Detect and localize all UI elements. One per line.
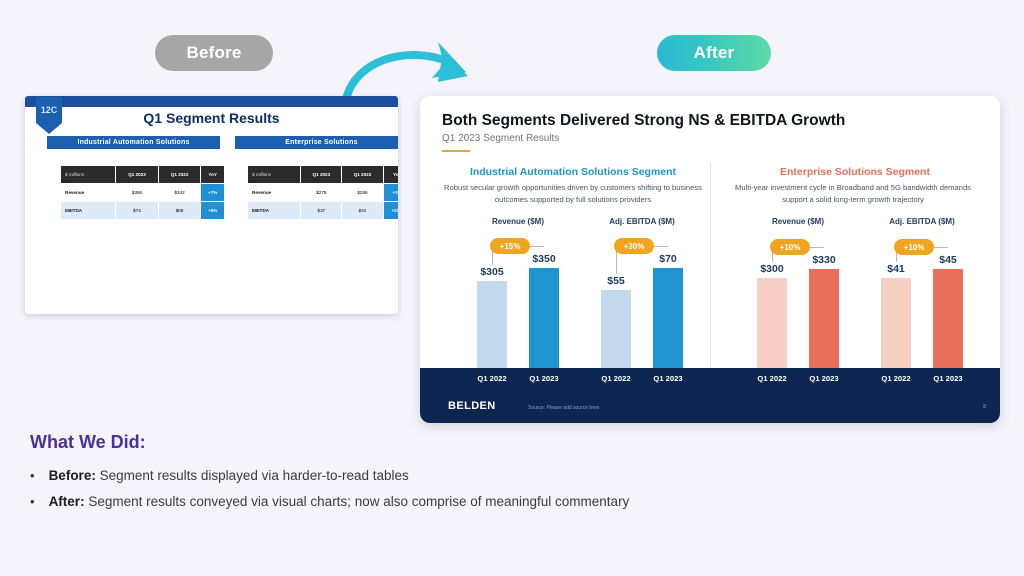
growth-badge: +10% — [894, 239, 934, 255]
x-axis-label: Q1 2023 — [640, 374, 696, 383]
x-axis-label: Q1 2023 — [920, 374, 976, 383]
th-cur: Q1 2023 — [301, 166, 342, 184]
cell-yoy: +7% — [201, 184, 225, 202]
slide-canvas: Before After 12C Q1 Segment Results Indu… — [0, 0, 1024, 576]
th-units: $ millions — [248, 166, 301, 184]
cell-prior: $68 — [158, 202, 201, 220]
th-units: $ millions — [61, 166, 116, 184]
after-column-desc-ias: Robust secular growth opportunities driv… — [444, 182, 702, 206]
growth-badge: +30% — [614, 238, 654, 254]
belden-logo: BELDEN — [448, 400, 496, 412]
bar-value-label: $41 — [868, 263, 924, 275]
cell-label: EBITDA — [248, 202, 301, 220]
th-yoy: YoY — [201, 166, 225, 184]
before-table-ent: $ millions Q1 2023 Q1 2022 YoY Revenue $… — [247, 165, 398, 220]
th-cur: Q1 2023 — [116, 166, 159, 184]
table-row: Revenue $366 $342 +7% — [61, 184, 225, 202]
lead-before: Before: — [49, 468, 96, 483]
bar-q1-2023 — [933, 269, 963, 368]
after-slide: Both Segments Delivered Strong NS & EBIT… — [420, 96, 1000, 423]
body-after: Segment results conveyed via visual char… — [85, 494, 630, 509]
after-column-heading-ias: Industrial Automation Solutions Segment — [438, 166, 708, 178]
cell-cur: $366 — [116, 184, 159, 202]
before-slide: 12C Q1 Segment Results Industrial Automa… — [25, 96, 398, 314]
cell-prior: $31 — [342, 202, 383, 220]
th-prior: Q1 2022 — [158, 166, 201, 184]
body-before: Segment results displayed via harder-to-… — [96, 468, 409, 483]
th-prior: Q1 2022 — [342, 166, 383, 184]
cell-yoy: +21% — [383, 202, 398, 220]
cell-prior: $342 — [158, 184, 201, 202]
bar-q1-2023 — [809, 269, 839, 368]
after-footer-band — [420, 396, 1000, 423]
after-page-number: 8 — [983, 404, 986, 410]
bar-value-label: $300 — [744, 263, 800, 275]
title-accent-rule — [442, 150, 470, 152]
cell-label: Revenue — [248, 184, 301, 202]
after-slide-title: Both Segments Delivered Strong NS & EBIT… — [442, 112, 845, 130]
before-table-ias: $ millions Q1 2023 Q1 2022 YoY Revenue $… — [60, 165, 225, 220]
before-top-bar — [25, 96, 398, 107]
after-source-note: Source: Please add source here — [528, 405, 599, 411]
bar-q1-2022 — [881, 278, 911, 368]
before-segment-heading-ent: Enterprise Solutions — [235, 136, 398, 149]
bar-q1-2023 — [653, 268, 683, 368]
before-pill-label: Before — [155, 35, 273, 71]
bar-value-label: $330 — [796, 254, 852, 266]
bar-value-label: $305 — [464, 266, 520, 278]
bar-q1-2023 — [529, 268, 559, 368]
table-row: Revenue $275 $266 +3% — [248, 184, 399, 202]
what-we-did-text-after: After: Segment results conveyed via visu… — [49, 494, 630, 509]
after-column-heading-ent: Enterprise Solutions Segment — [720, 166, 990, 178]
cell-cur: $74 — [116, 202, 159, 220]
chart-title-ias-ebitda: Adj. EBITDA ($M) — [592, 217, 692, 226]
cell-prior: $266 — [342, 184, 383, 202]
x-axis-label: Q1 2023 — [796, 374, 852, 383]
before-segment-heading-ias: Industrial Automation Solutions — [47, 136, 220, 149]
bar-q1-2022 — [601, 290, 631, 368]
bullet-icon: • — [30, 469, 35, 482]
after-slide-subtitle: Q1 2023 Segment Results — [442, 133, 559, 144]
after-column-desc-ent: Multi-year investment cycle in Broadband… — [724, 182, 982, 206]
table-row: EBITDA $74 $68 +9% — [61, 202, 225, 220]
x-axis-label: Q1 2022 — [588, 374, 644, 383]
th-yoy: YoY — [383, 166, 398, 184]
what-we-did-text-before: Before: Segment results displayed via ha… — [49, 468, 409, 483]
before-slide-title: Q1 Segment Results — [25, 110, 398, 126]
x-axis-label: Q1 2022 — [744, 374, 800, 383]
chart-title-ias-revenue: Revenue ($M) — [468, 217, 568, 226]
x-axis-label: Q1 2022 — [868, 374, 924, 383]
bar-value-label: $45 — [920, 254, 976, 266]
bar-q1-2022 — [757, 278, 787, 368]
cell-yoy: +3% — [383, 184, 398, 202]
what-we-did-item-before: • Before: Segment results displayed via … — [30, 468, 409, 483]
cell-yoy: +9% — [201, 202, 225, 220]
cell-label: Revenue — [61, 184, 116, 202]
bar-value-label: $350 — [516, 253, 572, 265]
growth-badge: +15% — [490, 238, 530, 254]
bar-charts-plot-area: $305$350+15%$55$70+30%$300$330+10%$41$45… — [420, 228, 1000, 368]
cell-cur: $37 — [301, 202, 342, 220]
what-we-did-title: What We Did: — [30, 432, 146, 453]
table-row: EBITDA $37 $31 +21% — [248, 202, 399, 220]
chart-title-ent-ebitda: Adj. EBITDA ($M) — [872, 217, 972, 226]
x-axis-label: Q1 2023 — [516, 374, 572, 383]
what-we-did-item-after: • After: Segment results conveyed via vi… — [30, 494, 629, 509]
cell-cur: $275 — [301, 184, 342, 202]
chart-title-ent-revenue: Revenue ($M) — [748, 217, 848, 226]
curved-arrow-icon — [342, 42, 487, 104]
bar-value-label: $55 — [588, 275, 644, 287]
bar-q1-2022 — [477, 281, 507, 368]
bar-value-label: $70 — [640, 253, 696, 265]
cell-label: EBITDA — [61, 202, 116, 220]
x-axis-label: Q1 2022 — [464, 374, 520, 383]
lead-after: After: — [49, 494, 85, 509]
growth-badge: +10% — [770, 239, 810, 255]
bullet-icon: • — [30, 495, 35, 508]
after-pill-label: After — [657, 35, 771, 71]
